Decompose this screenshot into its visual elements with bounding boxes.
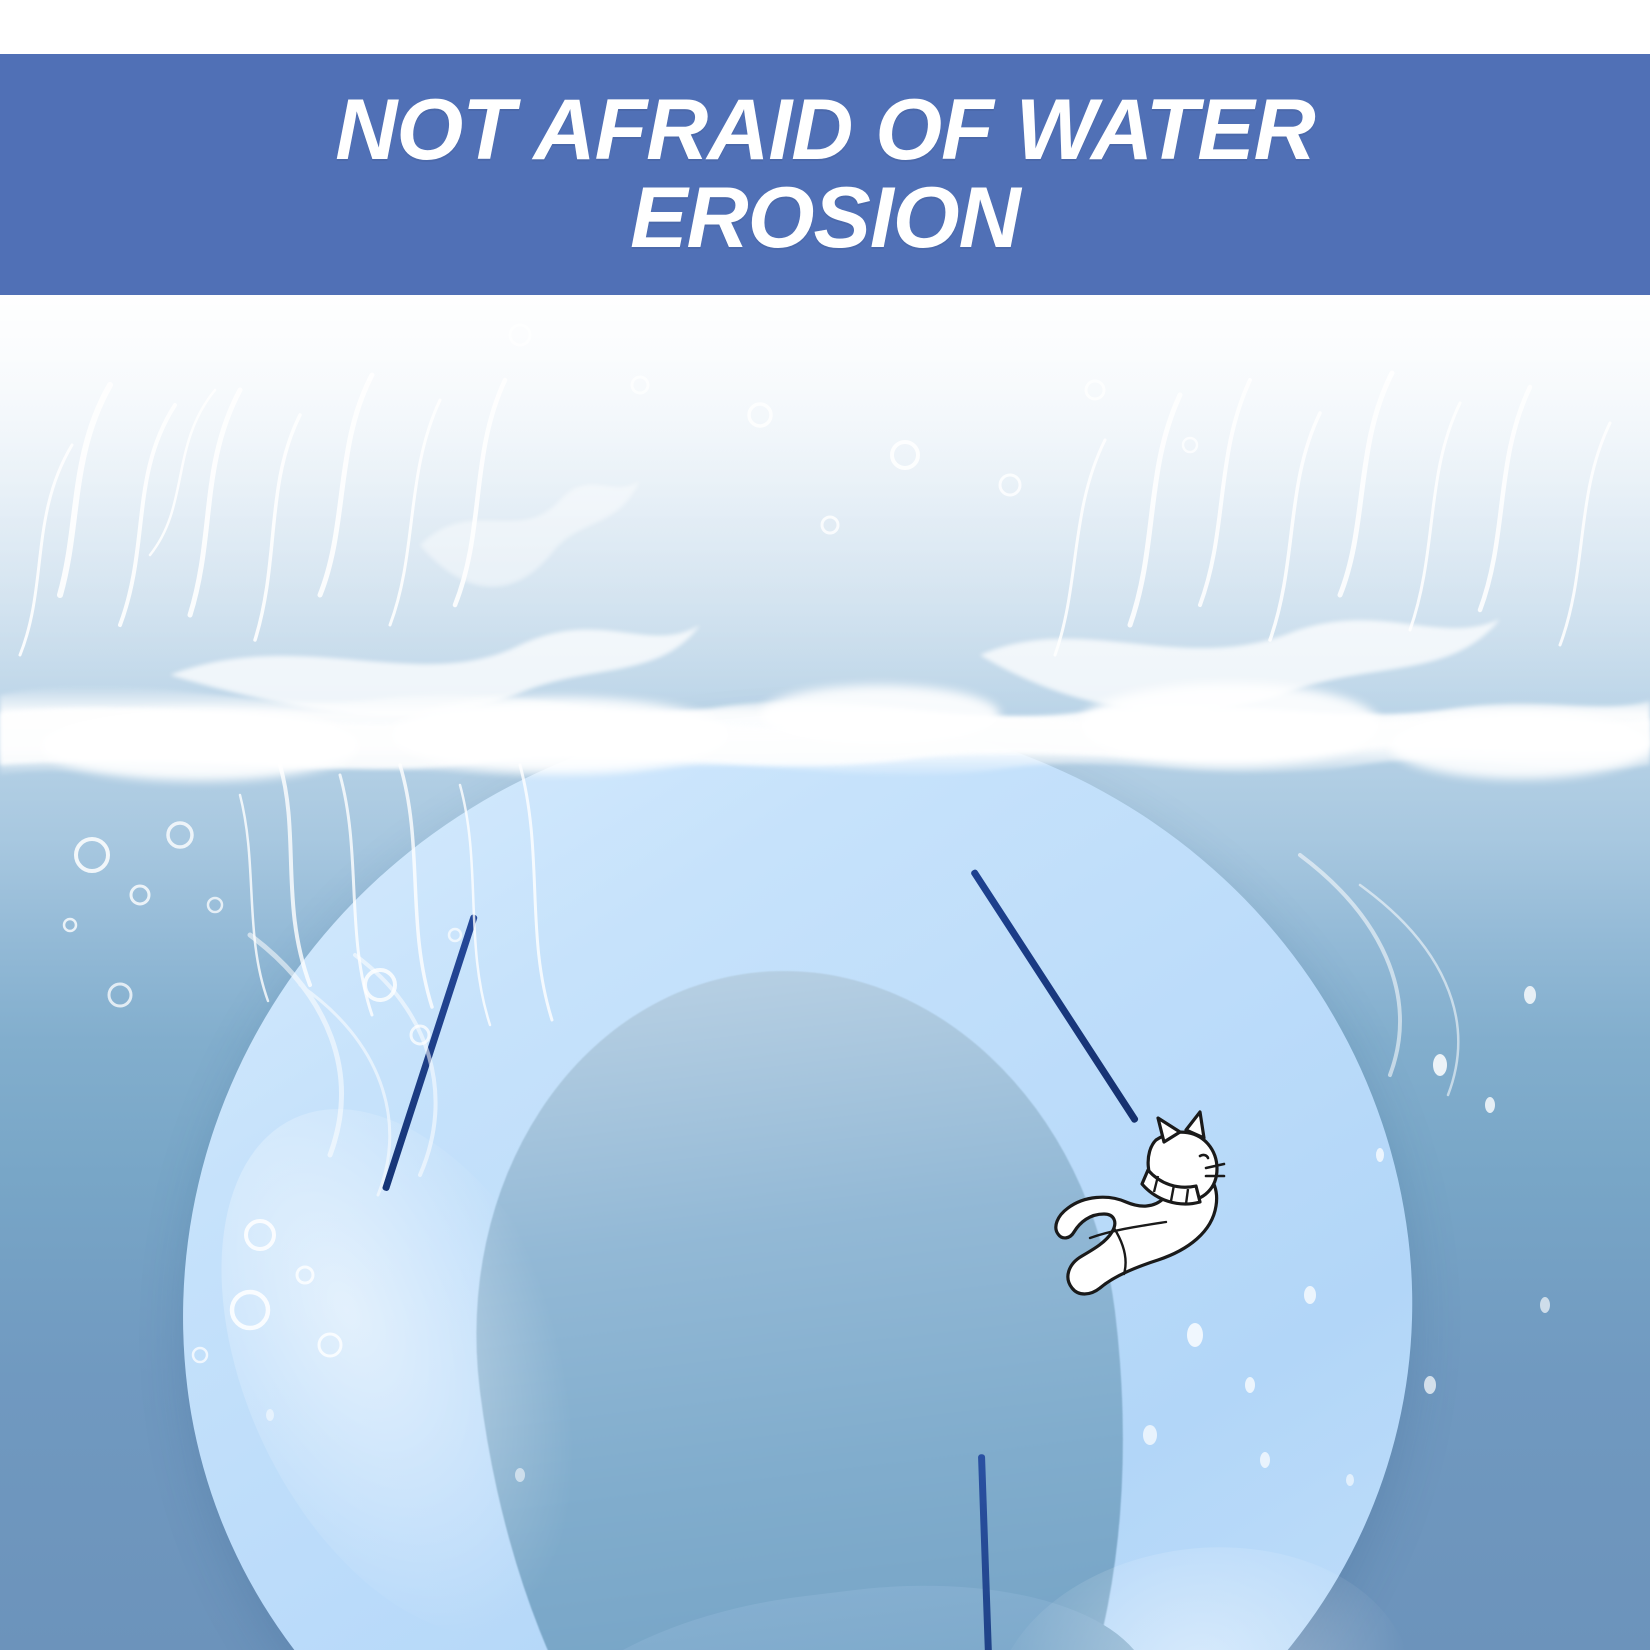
headline-banner: NOT AFRAID OF WATER EROSION [0, 54, 1650, 295]
product-marketing-image: NOT AFRAID OF WATER EROSION [0, 0, 1650, 1650]
foldable-toilet-seat-cover [115, 644, 1476, 1650]
top-white-margin [0, 0, 1650, 54]
headline-text: NOT AFRAID OF WATER EROSION [295, 87, 1354, 262]
water-scene-background [0, 295, 1650, 1650]
above-water-haze [0, 295, 1650, 715]
cat-mascot [1028, 1110, 1238, 1310]
